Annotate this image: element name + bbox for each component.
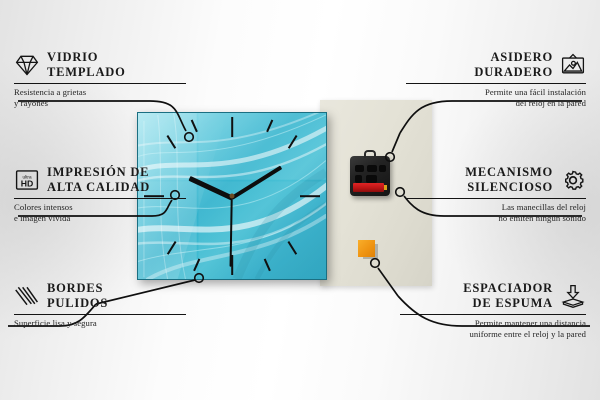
ultra-hd-icon: ultra HD bbox=[14, 168, 40, 192]
feature-description: Las manecillas del relojno emiten ningún… bbox=[406, 202, 586, 225]
divider bbox=[14, 198, 186, 199]
feature-title: IMPRESIÓN DEALTA CALIDAD bbox=[47, 165, 150, 195]
feature-impresion-alta-calidad[interactable]: ultra HD IMPRESIÓN DEALTA CALIDAD Colore… bbox=[14, 165, 186, 225]
infographic-canvas: VIDRIOTEMPLADO Resistencia a grietasy ra… bbox=[0, 0, 600, 400]
hd-label: HD bbox=[21, 178, 34, 188]
title-line-2: ALTA CALIDAD bbox=[47, 180, 150, 194]
feature-description: Permite una fácil instalacióndel reloj e… bbox=[406, 87, 586, 110]
divider bbox=[406, 83, 586, 84]
feature-espaciador-de-espuma[interactable]: ESPACIADORDE ESPUMA Permite mantener una… bbox=[400, 281, 586, 341]
desc-line-1: Colores intensos bbox=[14, 202, 73, 212]
polished-edges-icon bbox=[14, 284, 40, 308]
feature-title: ASIDERODURADERO bbox=[474, 50, 553, 80]
desc-line-1: Superficie lisa y segura bbox=[14, 318, 97, 328]
desc-line-1: Permite mantener una distancia bbox=[475, 318, 586, 328]
feature-title: VIDRIOTEMPLADO bbox=[47, 50, 126, 80]
feature-title: MECANISMOSILENCIOSO bbox=[465, 165, 553, 195]
feature-mecanismo-silencioso[interactable]: MECANISMOSILENCIOSO Las manecillas del r… bbox=[406, 165, 586, 225]
title-line-2: PULIDOS bbox=[47, 296, 108, 310]
title-line-1: ASIDERO bbox=[490, 50, 553, 64]
movement-knob-a bbox=[355, 165, 364, 172]
desc-line-2: e imagen vívida bbox=[14, 213, 70, 223]
title-line-1: VIDRIO bbox=[47, 50, 98, 64]
desc-line-2: del reloj en la pared bbox=[516, 98, 586, 108]
movement-hanger bbox=[364, 150, 376, 158]
clock-movement-mechanism bbox=[350, 156, 390, 196]
feature-description: Permite mantener una distanciauniforme e… bbox=[400, 318, 586, 341]
tick-12 bbox=[231, 117, 233, 137]
divider bbox=[406, 198, 586, 199]
movement-knob-e bbox=[366, 175, 377, 183]
title-line-2: DURADERO bbox=[474, 65, 553, 79]
feature-vidrio-templado[interactable]: VIDRIOTEMPLADO Resistencia a grietasy ra… bbox=[14, 50, 186, 110]
divider bbox=[14, 314, 186, 315]
hanging-frame-icon bbox=[560, 53, 586, 77]
feature-description: Colores intensose imagen vívida bbox=[14, 202, 186, 225]
title-line-2: SILENCIOSO bbox=[467, 180, 553, 194]
desc-line-1: Permite una fácil instalación bbox=[485, 87, 586, 97]
tick-3 bbox=[300, 195, 320, 197]
down-arrow-pad-icon bbox=[560, 284, 586, 308]
movement-knob-d bbox=[355, 175, 362, 183]
feature-description: Superficie lisa y segura bbox=[14, 318, 186, 330]
title-line-2: TEMPLADO bbox=[47, 65, 126, 79]
desc-line-2: no emiten ningún sonido bbox=[498, 213, 586, 223]
desc-line-1: Las manecillas del reloj bbox=[502, 202, 586, 212]
desc-line-2: uniforme entre el reloj y la pared bbox=[470, 329, 587, 339]
diamond-icon bbox=[14, 53, 40, 77]
movement-knob-c bbox=[379, 165, 386, 172]
movement-knob-b bbox=[367, 165, 377, 172]
battery bbox=[353, 183, 384, 192]
gear-icon bbox=[560, 168, 586, 192]
divider bbox=[400, 314, 586, 315]
divider bbox=[14, 83, 186, 84]
title-line-1: MECANISMO bbox=[465, 165, 553, 179]
feature-title: ESPACIADORDE ESPUMA bbox=[463, 281, 553, 311]
foam-spacer bbox=[358, 240, 375, 257]
feature-bordes-pulidos[interactable]: BORDESPULIDOS Superficie lisa y segura bbox=[14, 281, 186, 329]
title-line-1: BORDES bbox=[47, 281, 103, 295]
feature-description: Resistencia a grietasy rayones bbox=[14, 87, 186, 110]
feature-asidero-duradero[interactable]: ASIDERODURADERO Permite una fácil instal… bbox=[406, 50, 586, 110]
title-line-2: DE ESPUMA bbox=[473, 296, 553, 310]
clock-hands-hub bbox=[230, 194, 235, 199]
desc-line-1: Resistencia a grietas bbox=[14, 87, 86, 97]
title-line-1: IMPRESIÓN DE bbox=[47, 165, 149, 179]
title-line-1: ESPACIADOR bbox=[463, 281, 553, 295]
feature-title: BORDESPULIDOS bbox=[47, 281, 108, 311]
desc-line-2: y rayones bbox=[14, 98, 48, 108]
